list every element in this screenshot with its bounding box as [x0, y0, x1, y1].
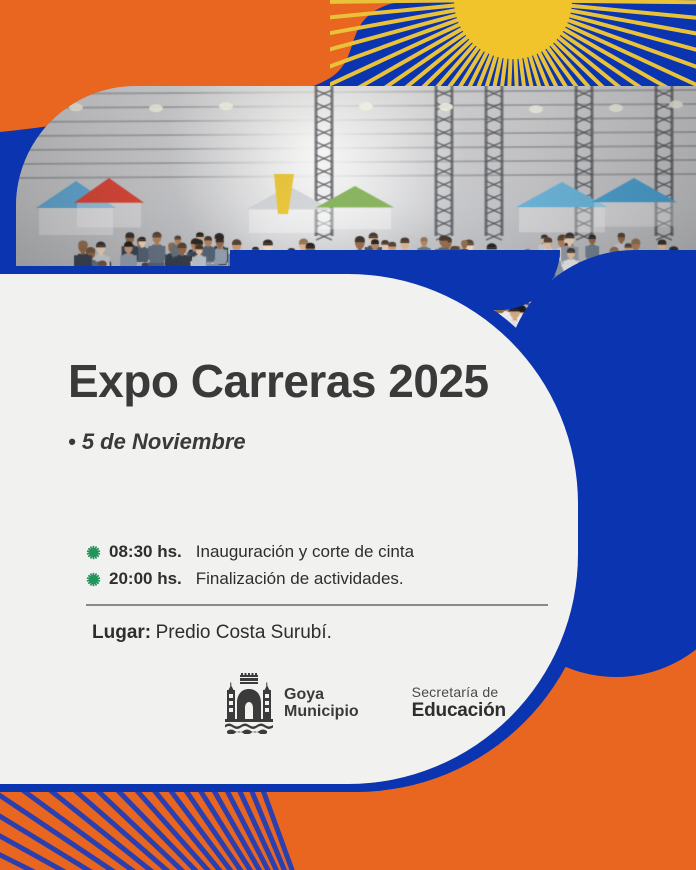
- schedule-item: 20:00 hs. Finalización de actividades.: [86, 569, 548, 589]
- goya-logo-text: Goya Municipio: [284, 686, 359, 721]
- secretaria-label: Secretaría de: [412, 684, 506, 700]
- goya-subtitle: Municipio: [284, 703, 359, 720]
- goya-municipio-logo: Goya Municipio: [222, 672, 359, 734]
- divider: [86, 604, 548, 606]
- educacion-label: Educación: [412, 700, 506, 722]
- schedule-description: Inauguración y corte de cinta: [196, 542, 414, 562]
- venue: Lugar: Predio Costa Surubí.: [92, 622, 332, 644]
- schedule-time: 20:00 hs.: [109, 569, 182, 589]
- schedule-description: Finalización de actividades.: [196, 569, 404, 589]
- goya-name: Goya: [284, 686, 359, 703]
- venue-value: Predio Costa Surubí.: [156, 622, 332, 643]
- schedule-item: 08:30 hs. Inauguración y corte de cinta: [86, 542, 548, 562]
- footer-logos: Goya Municipio Secretaría de Educación: [222, 672, 506, 734]
- poster: Expo Carreras 2025 • 5 de Noviembre 08:3…: [0, 0, 696, 870]
- schedule-list: 08:30 hs. Inauguración y corte de cinta …: [86, 542, 548, 596]
- schedule-time: 08:30 hs.: [109, 542, 182, 562]
- green-starburst-icon: [86, 545, 101, 560]
- page-title: Expo Carreras 2025: [68, 354, 489, 408]
- card-content: Expo Carreras 2025 • 5 de Noviembre 08:3…: [0, 274, 578, 784]
- green-starburst-icon: [86, 572, 101, 587]
- event-date: • 5 de Noviembre: [68, 429, 246, 455]
- venue-label: Lugar:: [92, 622, 151, 643]
- goya-coat-of-arms-icon: [222, 672, 276, 734]
- secretaria-educacion-logo: Secretaría de Educación: [412, 684, 506, 722]
